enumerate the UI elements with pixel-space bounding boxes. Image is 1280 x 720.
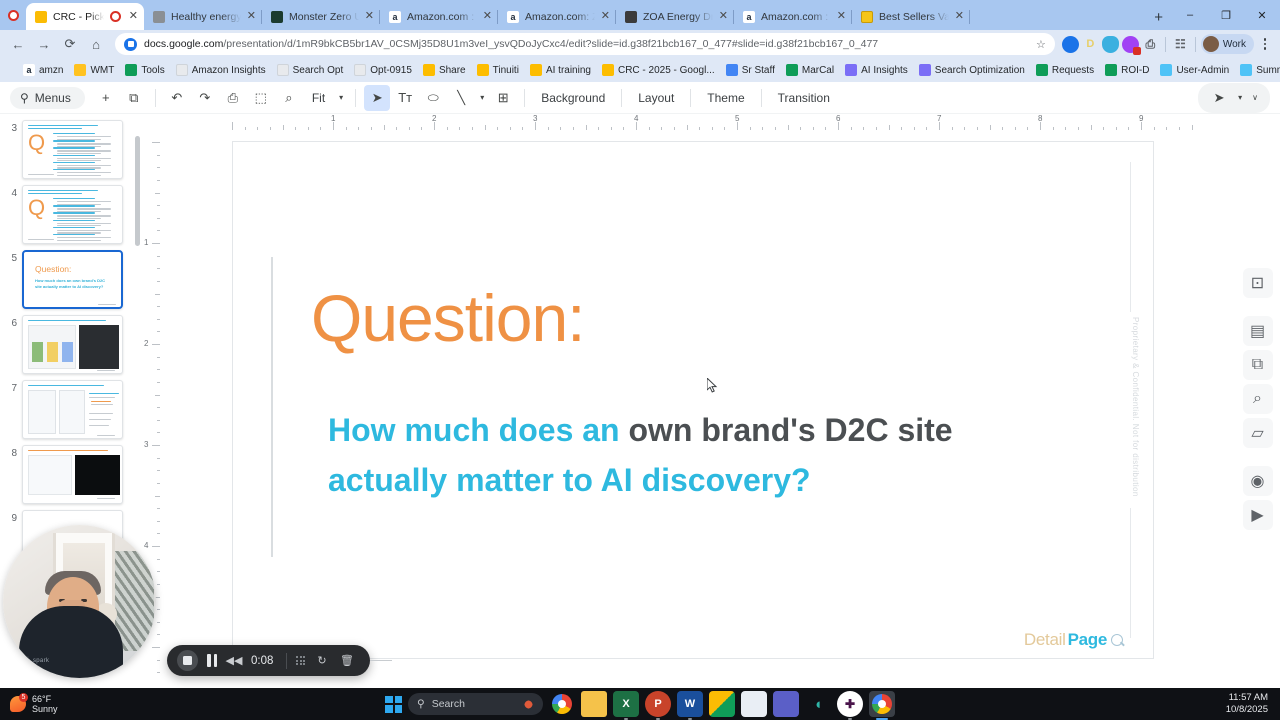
toolbar-divider-2 (1195, 37, 1196, 52)
thumb-line (91, 404, 113, 405)
thumb-line (57, 240, 101, 241)
toolbar-divider-6 (761, 89, 762, 107)
tab-recording-indicator-icon (110, 11, 121, 22)
select-tool[interactable]: ➤ (364, 85, 390, 111)
amazon-icon: a (389, 11, 401, 23)
confidential-note: Proprietary & Confidential. Not for dist… (1131, 317, 1140, 497)
pointer-caret-icon[interactable]: ▾ (1234, 93, 1246, 102)
thumb-line (53, 162, 95, 163)
gear-icon (919, 64, 931, 76)
zoa-icon (625, 11, 637, 23)
screen: CRC - Pick 6 Question✕Healthy energy dri… (0, 0, 1280, 720)
paint-format-button[interactable]: ⬚ (248, 85, 274, 111)
bookmark-item[interactable]: Share (418, 62, 471, 78)
tab-title: Amazon.com: ZOA Zero (525, 11, 595, 23)
filmstrip-row: 8 (0, 439, 143, 504)
browser-tab[interactable]: Healthy energy drinks gu✕ (144, 3, 262, 30)
browser-tab[interactable]: aAmazon.com : Monster E✕ (380, 3, 498, 30)
shape-tool[interactable]: ⬭ (420, 85, 446, 111)
tab-title: Amazon.com : Monster E (407, 11, 477, 23)
bookmark-item[interactable]: Opt-0915 (349, 62, 417, 78)
thumb-line (97, 435, 115, 436)
bookmark-label: Requests (1052, 65, 1094, 76)
filmstrip-row: 7 (0, 374, 143, 439)
ruler-label-v: 2 (144, 339, 148, 348)
ruler-tick-v (152, 243, 160, 244)
thumb-line (91, 401, 111, 402)
filmstrip-row: 4Q (0, 179, 143, 244)
logo-page-text: Page (1068, 630, 1107, 650)
folder-yellow-icon (602, 64, 614, 76)
thumb-line (97, 370, 115, 371)
webcam-shirt-logo: spark (33, 658, 49, 664)
browser-tab[interactable]: Best Sellers Variety Pack✕ (852, 3, 970, 30)
pause-recording-button[interactable] (207, 654, 217, 667)
ruler-tick (1040, 122, 1041, 130)
bookmark-item[interactable]: Summary Templates (1235, 62, 1280, 78)
thumb-dark-shot (75, 455, 120, 495)
taskbar-chrome-active-icon[interactable] (869, 691, 895, 717)
chrome-menu-button[interactable] (1256, 38, 1274, 50)
new-slide-button[interactable]: + (93, 85, 119, 111)
import-slide-button[interactable]: ⧉ (121, 85, 147, 111)
folder-yellow-icon (423, 64, 435, 76)
bookmark-item[interactable]: Amazon Insights (171, 62, 271, 78)
bookmark-item[interactable]: ROI-D (1100, 62, 1154, 78)
taskbar-file-explorer-icon[interactable] (581, 691, 607, 717)
tab-close-icon[interactable]: ✕ (129, 11, 138, 22)
maximize-button[interactable]: ❐ (1208, 0, 1244, 30)
bookmark-item[interactable]: Requests (1031, 62, 1099, 78)
pointer-mode-button[interactable]: ➤ (1206, 85, 1232, 111)
tab-title: Best Sellers Variety Pack (879, 11, 949, 23)
tab-title: CRC - Pick 6 Question (53, 11, 104, 23)
tab-close-icon[interactable]: ✕ (719, 11, 728, 22)
thumb-line (28, 190, 98, 191)
menus-search-button[interactable]: ⚲ Menus (10, 87, 85, 109)
bookmark-item[interactable]: Search Opt (272, 62, 349, 78)
tab-list: CRC - Pick 6 Question✕Healthy energy dri… (26, 0, 1145, 30)
thumb-line (57, 230, 111, 231)
mouse-cursor-icon (707, 378, 718, 393)
theme-button[interactable]: Theme (699, 88, 752, 108)
bookmark-item[interactable]: Tinuiti (472, 62, 524, 78)
browser-tab[interactable]: Monster Zero Ultra Flavo✕ (262, 3, 380, 30)
thumb-line (97, 498, 115, 499)
ruler-label-v: 4 (144, 541, 148, 550)
extensions-area: D ⎙ ☷ (1062, 36, 1199, 53)
body-text-cyan-1: How much does an (328, 412, 628, 448)
folder-yellow-icon (477, 64, 489, 76)
bookmark-item[interactable]: AI training (525, 62, 596, 78)
slide-thumbnail[interactable] (22, 315, 123, 374)
record-button[interactable]: ◉ (1243, 466, 1273, 496)
tab-strip-leading-icon (0, 0, 26, 30)
redo-button[interactable]: ↷ (192, 85, 218, 111)
bookmark-label: Search Optimization (935, 65, 1025, 76)
taskbar-search-input[interactable]: ⚲ Search (408, 693, 543, 715)
weather-widget[interactable]: 66°F Sunny (0, 694, 58, 715)
taskbar-loom-icon[interactable]: ◖ (805, 691, 831, 717)
profile-button[interactable]: Work (1201, 34, 1254, 54)
ruler-tick-v (152, 445, 160, 446)
slide-thumbnail[interactable]: Question:How much does an own brand's D2… (22, 250, 123, 309)
toolbar-divider-5 (690, 89, 691, 107)
thumb-line (98, 304, 116, 305)
slide-number: 7 (6, 380, 17, 394)
collapse-toolbar-button[interactable]: ∨ (1248, 93, 1262, 102)
weather-text: 66°F Sunny (32, 694, 58, 715)
thumb-line (53, 147, 95, 148)
transition-button[interactable]: Transition (770, 88, 838, 108)
bookmark-item[interactable]: Tools (120, 62, 169, 78)
walmart-icon (74, 64, 86, 76)
image-icon (354, 64, 366, 76)
thumb-table-1 (28, 390, 56, 434)
toolbar-right-group: ➤ ▾ ∨ (1198, 83, 1270, 113)
bookmark-item[interactable]: Sr Staff (721, 62, 780, 78)
bookmark-label: Summary Templates (1256, 65, 1280, 76)
new-tab-button[interactable]: + (1145, 9, 1172, 30)
address-bar[interactable]: docs.google.com/presentation/d/1mR9bkCB5… (115, 33, 1055, 55)
back-button[interactable]: ← (6, 32, 30, 56)
home-button[interactable]: ⌂ (84, 32, 108, 56)
filmstrip-row: 6 (0, 309, 143, 374)
zoom-button[interactable]: ⌕ (276, 85, 302, 111)
slide-number: 3 (6, 120, 17, 134)
bookmark-label: Share (439, 65, 466, 76)
taskbar-snipping-tool-icon[interactable] (741, 691, 767, 717)
extension-clipboard-icon[interactable]: ⎙ (1142, 36, 1159, 53)
recording-bar-connector (370, 660, 392, 661)
browser-tab[interactable]: aAmazon.com: ZOA Zero✕ (498, 3, 616, 30)
bookmark-item[interactable]: Search Optimization (914, 62, 1030, 78)
taskbar-word-icon[interactable]: W (677, 691, 703, 717)
ruler-label: 6 (836, 114, 840, 123)
clock-time: 11:57 AM (1226, 692, 1268, 704)
slides-icon (35, 11, 47, 23)
background-button[interactable]: Background (533, 88, 613, 108)
undo-button[interactable]: ↶ (164, 85, 190, 111)
slide-canvas-area: Question: How much does an own brand's D… (160, 130, 1235, 685)
slide-title[interactable]: Question: (311, 280, 585, 356)
amazon-icon: a (23, 64, 35, 76)
bookmark-label: Sr Staff (742, 65, 775, 76)
toolbar-divider-2 (355, 89, 356, 107)
webcam-person-shirt (19, 606, 123, 678)
thumb-line (53, 133, 95, 134)
apps-grid-icon[interactable] (6, 64, 8, 77)
slide-number: 4 (6, 185, 17, 199)
bookmark-label: Amazon Insights (192, 65, 266, 76)
reload-button[interactable]: ⟳ (58, 32, 82, 56)
thumb-line (28, 239, 54, 240)
ruler-tick (939, 122, 940, 130)
slide-number: 6 (6, 315, 17, 329)
slides-toolbar: ⚲ Menus + ⧉ ↶ ↷ ⎙ ⬚ ⌕ Fit ▾ ➤ Tт ⬭ ╲ ▾ ⊞… (0, 82, 1280, 114)
tab-close-icon[interactable]: ✕ (837, 11, 846, 22)
thumb-screenshot-right (79, 325, 119, 369)
forward-button[interactable]: → (32, 32, 56, 56)
tab-close-icon[interactable]: ✕ (365, 11, 374, 22)
detailpage-logo: DetailPage (1024, 630, 1125, 650)
thumb-product (62, 342, 73, 362)
browser-toolbar: ← → ⟳ ⌂ docs.google.com/presentation/d/1… (0, 30, 1280, 58)
taskbar-clock[interactable]: 11:57 AM 10/8/2025 (1226, 692, 1280, 717)
ruler-label-v: 3 (144, 440, 148, 449)
site-icon (124, 38, 137, 51)
body-text-cyan-2: actually matter to AI discovery? (328, 462, 811, 498)
extension-d-icon[interactable]: D (1082, 36, 1099, 53)
webcam-overlay[interactable]: spark (3, 525, 156, 678)
slide-thumbnail[interactable]: Q (22, 185, 123, 244)
search-icon: ⚲ (20, 91, 29, 105)
thumb-line (89, 419, 111, 420)
bookmark-item[interactable]: aamzn (18, 62, 68, 78)
thumb-line (57, 223, 111, 224)
chrome-icon (552, 694, 572, 714)
extension-grammarly-icon[interactable] (1062, 36, 1079, 53)
bookmark-label: CRC - 2025 - Googl... (618, 65, 715, 76)
ruler-tick (737, 122, 738, 130)
slide-thumbnail[interactable] (22, 380, 123, 439)
thumb-line (53, 140, 95, 141)
restart-recording-button[interactable]: ↻ (314, 654, 330, 667)
logo-detail-text: Detail (1024, 630, 1066, 650)
recording-control-bar: ◀◀ 0:08 ↻ 🗑 (167, 645, 370, 676)
minimize-button[interactable]: – (1172, 0, 1208, 30)
slide-number: 9 (6, 510, 17, 524)
image-search-button[interactable]: ⌕ (1243, 384, 1273, 414)
recording-divider (286, 653, 287, 669)
layout-button[interactable]: Layout (630, 88, 682, 108)
bookmark-item[interactable]: User-Admin (1155, 62, 1234, 78)
browser-tab[interactable]: ZOA Energy Drink Variet✕ (616, 3, 734, 30)
ruler-label: 5 (735, 114, 739, 123)
taskbar-slack-icon[interactable]: ✚ (837, 691, 863, 717)
bookmark-item[interactable]: CRC - 2025 - Googl... (597, 62, 720, 78)
current-slide[interactable]: Question: How much does an own brand's D… (232, 141, 1154, 659)
thumb-line (53, 169, 95, 170)
video-record-button[interactable]: ▶ (1243, 500, 1273, 530)
avatar (1203, 36, 1219, 52)
windows-taskbar: 66°F Sunny ⚲ Search X P W ◖ ✚ (0, 688, 1280, 720)
tab-title: Amazon.com : Yerba Ma (761, 11, 831, 23)
search-placeholder: Search (432, 698, 465, 710)
thumb-line (57, 237, 111, 238)
taskbar-excel-icon[interactable]: X (613, 691, 639, 717)
bookmark-item[interactable]: WMT (69, 62, 119, 78)
ruler-tick (232, 122, 233, 130)
thumb-line (28, 450, 108, 451)
taskbar-google-slides-icon[interactable] (709, 691, 735, 717)
thumb-product (47, 342, 58, 362)
slide-body-text[interactable]: How much does an own brand's D2C site ac… (328, 406, 1088, 505)
insert-card-button[interactable]: ▤ (1243, 316, 1273, 346)
browser-tab[interactable]: aAmazon.com : Yerba Ma✕ (734, 3, 852, 30)
thumb-line (28, 320, 106, 321)
tab-close-icon[interactable]: ✕ (247, 11, 256, 22)
windows-start-icon[interactable] (385, 696, 402, 713)
window-controls: – ❐ ✕ (1172, 0, 1280, 30)
tab-title: ZOA Energy Drink Variet (643, 11, 713, 23)
sheets-icon (125, 64, 137, 76)
monster-icon (271, 11, 283, 23)
slide-number: 8 (6, 445, 17, 459)
bookmark-item[interactable]: MarCal (781, 62, 839, 78)
body-text-dark: own brand's D2C site (628, 412, 952, 448)
ruler-label: 3 (533, 114, 537, 123)
zoom-caret-icon[interactable]: ▾ (335, 93, 347, 102)
grid-icon[interactable] (17, 656, 29, 668)
taskbar-chrome-icon[interactable] (549, 691, 575, 717)
taskbar-powerpoint-icon[interactable]: P (645, 691, 671, 717)
thumb-line (57, 201, 111, 202)
bookmark-items: aamznWMTToolsAmazon InsightsSearch OptOp… (18, 62, 1280, 78)
thumb-line (57, 165, 111, 166)
taskbar-center-group: ⚲ Search X P W ◖ ✚ (385, 691, 895, 717)
thumb-line (57, 150, 111, 151)
tab-close-icon[interactable]: ✕ (483, 11, 492, 22)
toolbar-divider-4 (621, 89, 622, 107)
folder-button[interactable]: ▱ (1243, 418, 1273, 448)
bookmark-item[interactable]: AI Insights (840, 62, 913, 78)
bookmark-label: Opt-0915 (370, 65, 412, 76)
duplicate-slides-button[interactable]: ⧉ (1243, 350, 1273, 380)
slide-accent-bar (271, 257, 273, 557)
thumb-title: Question: (35, 264, 71, 274)
print-button[interactable]: ⎙ (220, 85, 246, 111)
ruler-tick (636, 122, 637, 130)
url-text: docs.google.com/presentation/d/1mR9bkCB5… (144, 38, 878, 50)
tab-close-icon[interactable]: ✕ (955, 11, 964, 22)
bookmark-label: amzn (39, 65, 63, 76)
drop-icon (1160, 64, 1172, 76)
magnifier-icon (1110, 633, 1125, 648)
thumb-line (57, 136, 111, 137)
line-caret-icon[interactable]: ▾ (476, 93, 488, 102)
text-box-tool[interactable]: Tт (392, 85, 418, 111)
ruler-tick (535, 122, 536, 130)
drag-dots-icon[interactable] (296, 656, 305, 665)
browser-tab[interactable]: CRC - Pick 6 Question✕ (26, 3, 144, 30)
ruler-label-v: 1 (144, 238, 148, 247)
ruler-label: 8 (1038, 114, 1042, 123)
gslide-icon (726, 64, 738, 76)
bookmark-star-icon[interactable]: ☆ (1036, 38, 1046, 51)
weather-icon (10, 696, 26, 712)
thumb-line (28, 174, 54, 175)
confidential-line-top (1130, 162, 1131, 312)
thumb-line (89, 413, 113, 414)
stop-recording-button[interactable] (177, 650, 198, 671)
slide-thumbnail[interactable]: Q (22, 120, 123, 179)
browser-tab-strip: CRC - Pick 6 Question✕Healthy energy dri… (0, 0, 1280, 30)
bookmark-label: Tools (141, 65, 164, 76)
bookmark-label: AI training (546, 65, 591, 76)
bookmark-label: Search Opt (293, 65, 344, 76)
thumb-line (57, 143, 111, 144)
line-tool[interactable]: ╲ (448, 85, 474, 111)
clock-date: 10/8/2025 (1226, 704, 1268, 716)
amazon-icon: a (743, 11, 755, 23)
extensions-puzzle-icon[interactable]: ☷ (1172, 36, 1189, 53)
insert-image-button[interactable]: ⊡ (1243, 268, 1273, 298)
ruler-label: 4 (634, 114, 638, 123)
record-indicator-icon (8, 10, 19, 21)
sheets-icon (1105, 64, 1117, 76)
thumb-line (89, 397, 115, 398)
profile-label: Work (1223, 39, 1246, 50)
tab-close-icon[interactable]: ✕ (601, 11, 610, 22)
menus-label: Menus (35, 91, 71, 105)
ruler-tick (838, 122, 839, 130)
extension-keepa-icon[interactable] (1102, 36, 1119, 53)
chrome-icon-2 (872, 694, 892, 714)
ruler-label: 1 (331, 114, 335, 123)
ruler-tick-v (152, 344, 160, 345)
search-icon: ⚲ (417, 698, 425, 710)
thumb-line (57, 215, 111, 216)
thumb-line (53, 227, 95, 228)
thumb-line (28, 385, 104, 386)
close-button[interactable]: ✕ (1244, 0, 1280, 30)
ruler-label: 2 (432, 114, 436, 123)
ruler-tick-v (152, 546, 160, 547)
delete-recording-button[interactable]: 🗑 (339, 654, 355, 667)
bookmark-label: Tinuiti (493, 65, 519, 76)
bookmark-label: MarCal (802, 65, 834, 76)
rewind-button[interactable]: ◀◀ (226, 654, 242, 667)
bookmark-label: User-Admin (1176, 65, 1229, 76)
toolbar-divider-3 (524, 89, 525, 107)
drop-icon (1240, 64, 1252, 76)
thumb-line (89, 393, 119, 394)
thumb-line (57, 175, 101, 176)
thumb-line (53, 198, 95, 199)
thumb-product (32, 342, 43, 362)
confidential-line-bottom (1130, 508, 1131, 638)
horizontal-ruler: 123456789 (160, 114, 1260, 130)
tab-title: Monster Zero Ultra Flavo (289, 11, 359, 23)
thumb-body: How much does an own brand's D2C site ac… (35, 278, 109, 290)
thumb-q-mark: Q (28, 197, 45, 219)
sheets-icon (1036, 64, 1048, 76)
ruler-tick-v (152, 142, 160, 143)
globe-icon (153, 11, 165, 23)
toolbar-divider (1165, 37, 1166, 52)
insert-image-tool[interactable]: ⊞ (490, 85, 516, 111)
thumb-line (53, 205, 95, 206)
thumb-line (89, 425, 109, 426)
bookmark-label: AI Insights (861, 65, 908, 76)
toolbar-divider (155, 89, 156, 107)
slide-thumbnail[interactable] (22, 445, 123, 504)
filmstrip-row: 3Q (0, 114, 143, 179)
taskbar-teams-icon[interactable] (773, 691, 799, 717)
bestseller-icon (861, 11, 873, 23)
zoom-level-label[interactable]: Fit (304, 88, 333, 108)
filmstrip-scrollbar[interactable] (135, 136, 140, 246)
extension-helium-icon[interactable] (1122, 36, 1139, 53)
sheets-icon (786, 64, 798, 76)
filmstrip-row: 5Question:How much does an own brand's D… (0, 244, 143, 309)
recording-elapsed-time: 0:08 (251, 655, 277, 667)
folder-yellow-icon (530, 64, 542, 76)
ruler-label: 7 (937, 114, 941, 123)
ruler-label: 9 (1139, 114, 1143, 123)
gear-icon (845, 64, 857, 76)
